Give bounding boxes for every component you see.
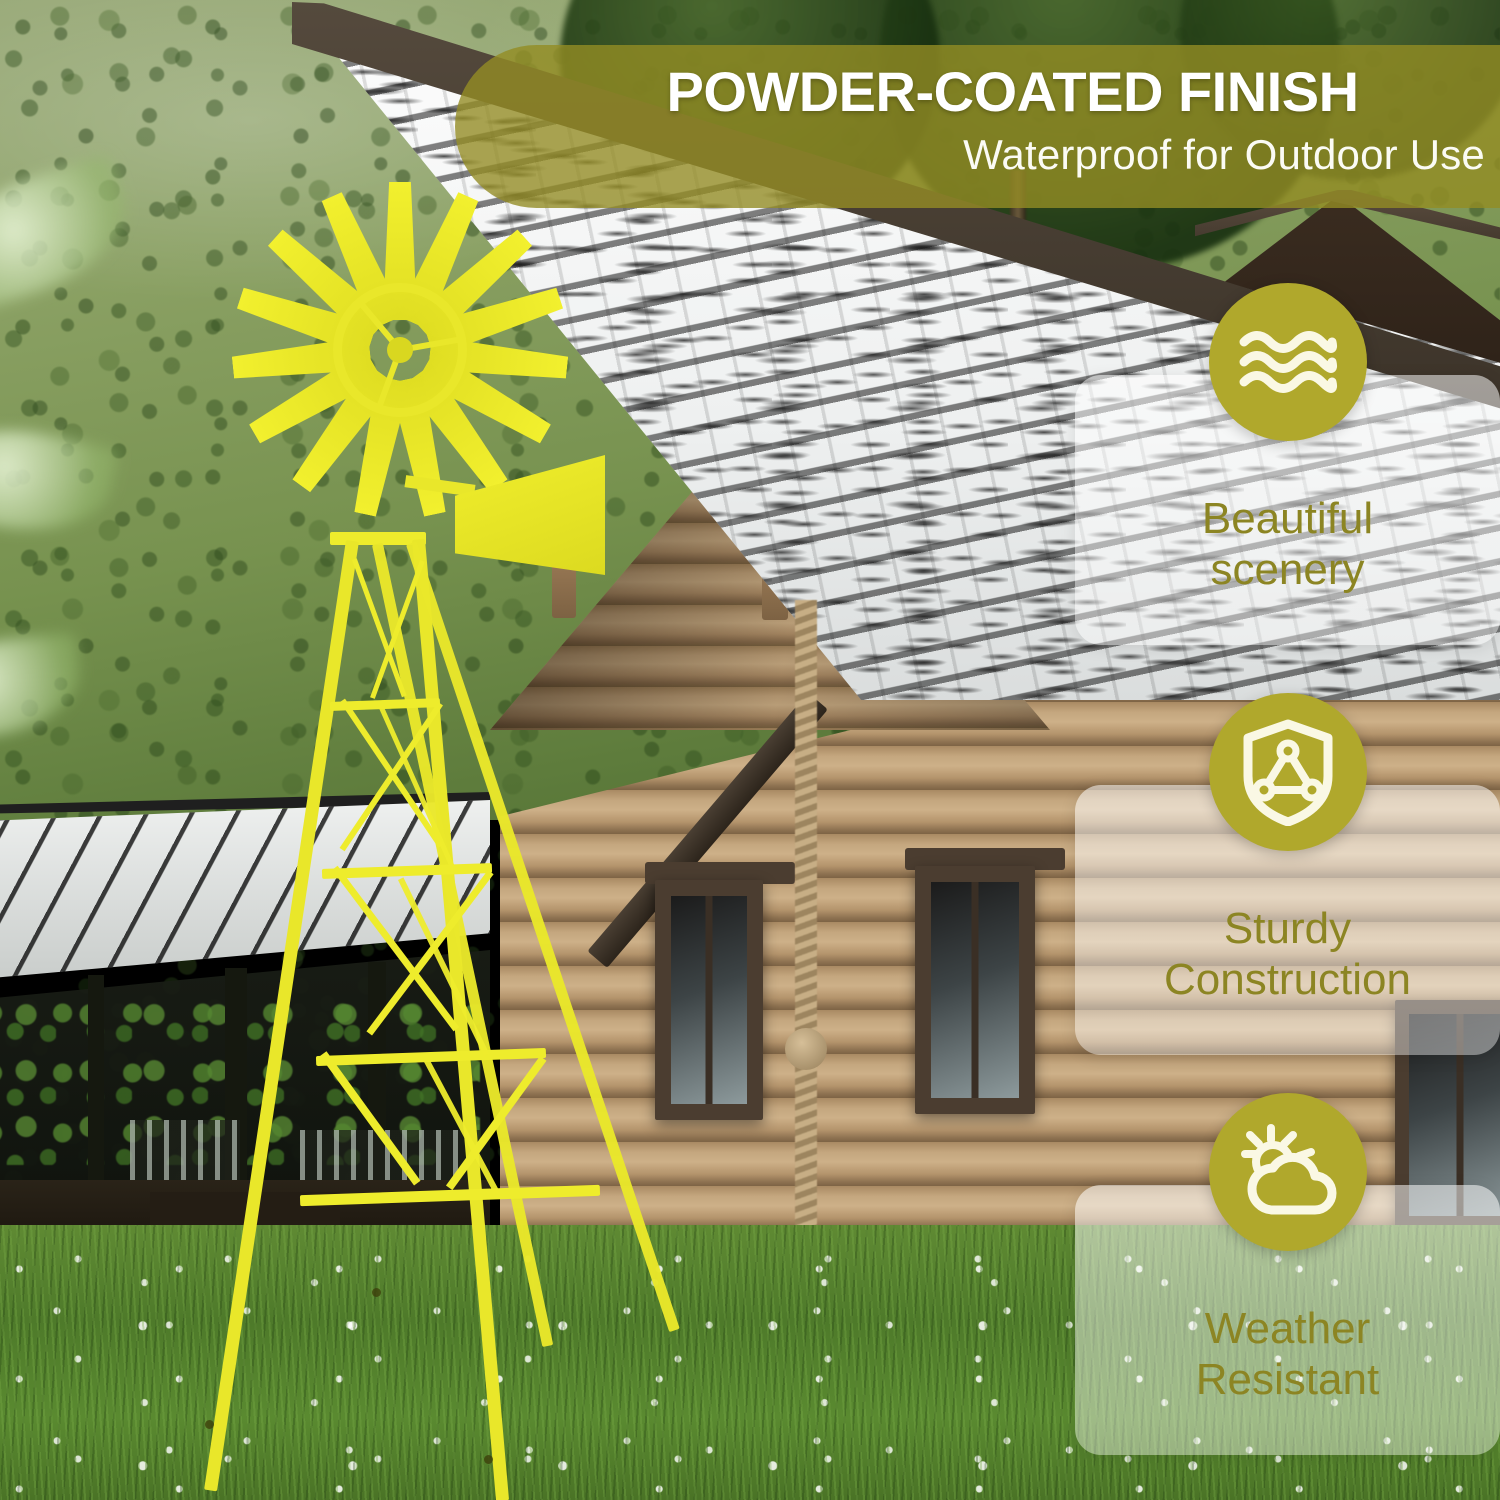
feature-card-beautiful-scenery[interactable]: Beautiful scenery (1075, 375, 1500, 645)
feature-card-weather-resistant[interactable]: Weather Resistant (1075, 1185, 1500, 1455)
header-banner: POWDER-COATED FINISH Waterproof for Outd… (455, 45, 1500, 208)
feature-card-sturdy-construction[interactable]: Sturdy Construction (1075, 785, 1500, 1055)
tower-crossbar (322, 863, 492, 879)
feature-label: Sturdy Construction (1075, 903, 1500, 1005)
tower-leg-front-left (204, 540, 359, 1491)
tower-brace (332, 866, 459, 1032)
banner-subtitle: Waterproof for Outdoor Use (540, 131, 1485, 179)
product-feature-image: POWDER-COATED FINISH Waterproof for Outd… (0, 0, 1500, 1500)
waves-icon (1209, 283, 1367, 441)
shield-truss-icon (1209, 693, 1367, 851)
rotor-hub-center (387, 337, 413, 363)
tower-foot-hole (372, 1288, 381, 1297)
sun-cloud-icon (1209, 1093, 1367, 1251)
banner-title: POWDER-COATED FINISH (540, 59, 1485, 124)
tower-brace (320, 1051, 421, 1185)
tower-foot-hole (205, 1420, 214, 1429)
tower-foot-hole (484, 1455, 493, 1464)
feature-label: Beautiful scenery (1075, 493, 1500, 595)
tower-leg-back-left (372, 543, 553, 1347)
feature-label: Weather Resistant (1075, 1303, 1500, 1405)
